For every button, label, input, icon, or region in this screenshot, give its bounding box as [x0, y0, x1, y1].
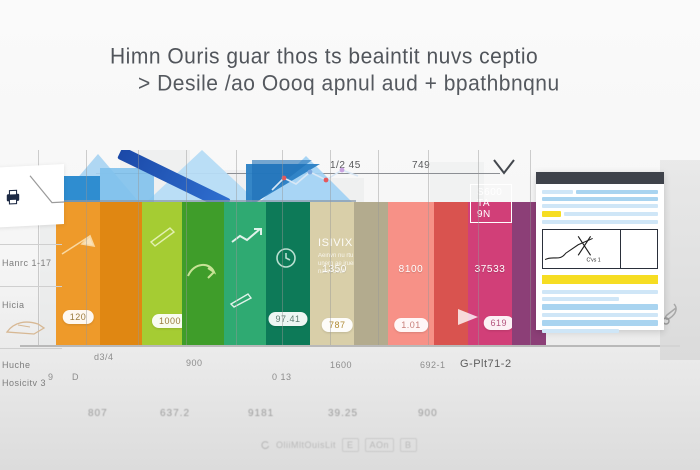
x-axis-line	[20, 345, 680, 347]
document-line	[542, 297, 619, 301]
arrow-scribble-icon	[60, 230, 100, 260]
axis-tick-upper-3: 900	[186, 358, 203, 368]
bar-orange-2[interactable]	[100, 202, 142, 345]
printer-icon	[4, 188, 22, 205]
bar-group: 120 1000	[56, 202, 576, 345]
grid-tick	[378, 150, 379, 345]
document-row	[542, 190, 658, 194]
document-line	[576, 190, 658, 194]
figure-sketch-icon: C'vs 1	[543, 230, 620, 268]
document-line	[542, 220, 658, 224]
axis-tick-lower-3: 39.25	[328, 408, 358, 419]
document-line	[542, 313, 658, 317]
document-line	[542, 190, 573, 194]
axis-tick-lower-1: 637.2	[160, 408, 190, 419]
axis-tick-upper-5: 1600	[330, 360, 352, 370]
arrow-curve-icon	[184, 256, 220, 284]
axis-tick-upper-1: D	[72, 372, 79, 382]
bar-tag: S600 TA 9N	[470, 184, 512, 223]
bottom-toolbar-label-2[interactable]: AOn	[365, 438, 395, 452]
bar-khaki[interactable]	[354, 202, 388, 345]
axis-tick-upper-4: 0 13	[272, 372, 292, 382]
sidebar-divider	[0, 348, 62, 349]
bar-value-label: 1350	[322, 264, 347, 275]
bar-badge: 97.41	[268, 312, 307, 326]
bar-value-label: 8100	[399, 264, 424, 275]
grid-tick	[530, 150, 531, 345]
bar-lime[interactable]: 1000	[142, 202, 182, 345]
document-titlebar	[536, 172, 664, 184]
document-line	[542, 197, 658, 201]
sidebar-divider	[0, 286, 62, 287]
grid-tick	[138, 150, 139, 345]
document-line	[542, 290, 658, 294]
axis-tick-lower-2: 9181	[248, 408, 274, 419]
axis-tick-lower-0: 807	[88, 408, 108, 419]
axis-tick-upper-7: G-Plt71-2	[460, 358, 512, 370]
screenshot-root: Himn Ouris guar thos ts beaintit nuvs ce…	[0, 0, 700, 470]
clock-icon	[274, 246, 298, 270]
title-line-2: > Desile /ao Oooq apnul aud + bpathbnqnu	[138, 69, 700, 98]
axis-tick-lower-4: 900	[418, 408, 438, 419]
refresh-icon	[260, 440, 270, 450]
document-panel[interactable]: C'vs 1	[536, 172, 664, 330]
grid-tick	[282, 150, 283, 345]
axis-tick-upper-6: 692-1	[420, 360, 446, 370]
figure-chart-area: C'vs 1	[543, 230, 621, 268]
bar-chart-plot: 120 1000	[56, 150, 576, 345]
bar-teal[interactable]	[224, 202, 266, 345]
document-line	[542, 320, 658, 326]
document-line	[542, 329, 619, 333]
bottom-toolbar-label-0[interactable]: OliiMltOuisLit	[276, 440, 336, 450]
bar-darkteal[interactable]: 97.41	[266, 202, 310, 345]
axis-tick-upper-2: d3/4	[94, 352, 114, 362]
bar-badge: 1.01	[394, 318, 428, 332]
bar-badge: 120	[63, 310, 94, 324]
bottom-toolbar[interactable]: OliiMltOuisLit E AOn B	[260, 436, 460, 454]
sidebar-item-label-0[interactable]: Hanrc 1-17	[2, 258, 66, 268]
roof-network-icon	[270, 164, 360, 196]
background-panel	[660, 160, 700, 360]
sidebar-item-label-2[interactable]: Huche	[2, 360, 66, 370]
grid-tick	[86, 150, 87, 345]
sidebar-item-label-3[interactable]: Hosicitv 3	[2, 378, 66, 388]
sidebar-divider	[0, 244, 62, 245]
highlight-chip	[542, 211, 561, 217]
document-line	[564, 212, 658, 216]
title-line-1: Himn Ouris guar thos ts beaintit nuvs ce…	[110, 43, 700, 71]
sidebar-item-label-1[interactable]: Hicia	[2, 300, 66, 310]
grid-tick	[186, 150, 187, 345]
bottom-toolbar-label-1[interactable]: E	[342, 438, 359, 452]
pencil-icon	[228, 290, 256, 308]
grid-tick	[236, 150, 237, 345]
sidebar-card[interactable]	[0, 164, 64, 228]
bar-badge: 619	[484, 316, 515, 330]
bar-magenta[interactable]: S600 TA 9N 37533 619	[468, 202, 512, 345]
pen-scribble-icon	[148, 224, 178, 248]
document-figure[interactable]: C'vs 1	[542, 229, 658, 269]
leader-line	[28, 172, 64, 214]
bar-value-label: 37533	[475, 264, 506, 275]
hand-scribble-icon	[4, 316, 50, 338]
document-line	[542, 204, 658, 208]
grid-tick	[428, 150, 429, 345]
svg-text:C'vs 1: C'vs 1	[586, 258, 600, 264]
bar-tan[interactable]: ISIVIX SAEOA Aeinvn nu rtu oasnr ieut an…	[310, 202, 354, 345]
highlight-band	[542, 275, 658, 284]
page-title: Himn Ouris guar thos ts beaintit nuvs ce…	[110, 44, 700, 97]
bottom-toolbar-label-3[interactable]: B	[400, 438, 417, 452]
document-line	[542, 304, 658, 310]
document-row	[542, 211, 658, 217]
grid-tick	[330, 150, 331, 345]
grid-tick	[478, 150, 479, 345]
figure-legend-area	[621, 230, 657, 268]
bar-badge: 787	[322, 318, 353, 332]
bar-green[interactable]	[182, 202, 224, 345]
